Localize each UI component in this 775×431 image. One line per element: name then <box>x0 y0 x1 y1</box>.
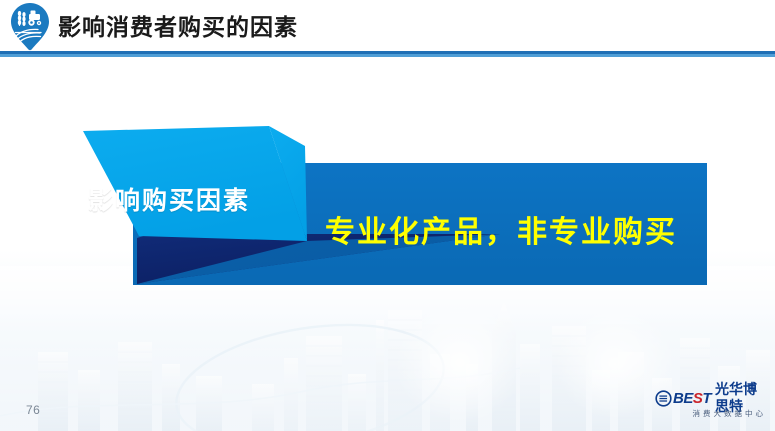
page-number: 76 <box>26 403 40 417</box>
slide-header: 影响消费者购买的因素 <box>0 0 775 58</box>
slide-canvas: 影响消费者购买的因素 <box>0 0 775 431</box>
best-circle-icon <box>655 390 672 407</box>
page-title: 影响消费者购买的因素 <box>58 12 298 42</box>
header-divider <box>0 51 775 57</box>
corporate-logo: BEST 光华博思特 消费大数据中心 <box>655 389 767 419</box>
brand-subtitle: 消费大数据中心 <box>655 408 767 419</box>
brand-en: BEST <box>673 390 711 407</box>
location-pin-agriculture-icon <box>8 2 52 54</box>
